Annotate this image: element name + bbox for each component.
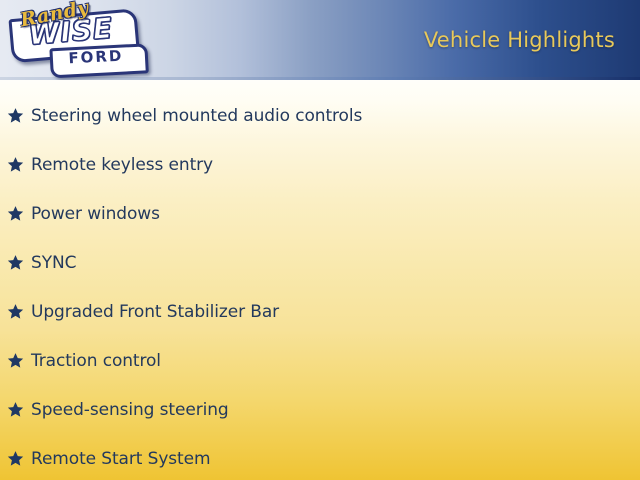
star-icon xyxy=(7,303,24,320)
logo-banner-word: FORD xyxy=(49,44,142,73)
list-item: Remote keyless entry xyxy=(0,140,640,189)
star-icon xyxy=(7,450,24,467)
vehicle-highlights-list: Steering wheel mounted audio controls Re… xyxy=(0,80,640,480)
star-icon xyxy=(7,254,24,271)
star-icon xyxy=(7,352,24,369)
list-item-label: Upgraded Front Stabilizer Bar xyxy=(31,302,279,322)
list-item-label: Remote Start System xyxy=(31,449,210,469)
list-item-label: Steering wheel mounted audio controls xyxy=(31,106,362,126)
list-item-label: Remote keyless entry xyxy=(31,155,213,175)
list-item-label: SYNC xyxy=(31,253,76,273)
list-item: Upgraded Front Stabilizer Bar xyxy=(0,287,640,336)
star-icon xyxy=(7,205,24,222)
list-item-label: Speed-sensing steering xyxy=(31,400,229,420)
vehicle-highlights-slide: Randy WISE FORD Vehicle Highlights Steer… xyxy=(0,0,640,480)
star-icon xyxy=(7,156,24,173)
list-item: Speed-sensing steering xyxy=(0,385,640,434)
list-item: Steering wheel mounted audio controls xyxy=(0,91,640,140)
page-title: Vehicle Highlights xyxy=(424,28,615,52)
list-item: Traction control xyxy=(0,336,640,385)
list-item: SYNC xyxy=(0,238,640,287)
logo-banner-plate: FORD xyxy=(49,44,142,75)
list-item-label: Power windows xyxy=(31,204,160,224)
list-item-label: Traction control xyxy=(31,351,161,371)
slide-body: Steering wheel mounted audio controls Re… xyxy=(0,80,640,480)
star-icon xyxy=(7,107,24,124)
list-item: Power windows xyxy=(0,189,640,238)
list-item: Remote Start System xyxy=(0,434,640,480)
star-icon xyxy=(7,401,24,418)
dealer-logo[interactable]: Randy WISE FORD xyxy=(8,2,143,78)
slide-header: Randy WISE FORD Vehicle Highlights xyxy=(0,0,640,80)
